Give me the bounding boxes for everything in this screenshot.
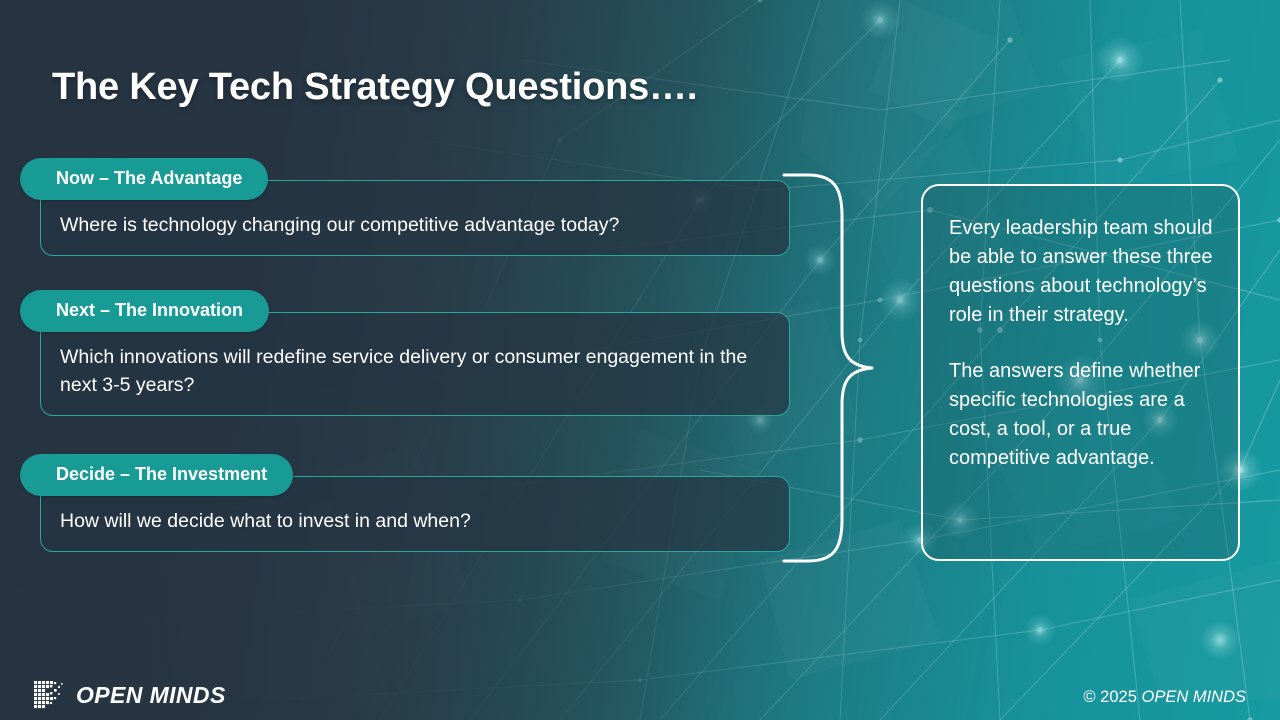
question-pill-decide[interactable]: Decide – The Investment xyxy=(20,454,293,496)
copyright-notice: © 2025 OPEN MINDS xyxy=(1083,688,1246,707)
question-text-next: Which innovations will redefine service … xyxy=(60,343,767,399)
copyright-symbol: © xyxy=(1083,688,1095,706)
open-minds-logo: OPEN MINDS xyxy=(34,681,226,709)
question-text-now: Where is technology changing our competi… xyxy=(60,211,767,239)
curly-brace-connector xyxy=(780,172,880,564)
copyright-year: 2025 xyxy=(1100,688,1137,706)
question-text-decide: How will we decide what to invest in and… xyxy=(60,507,767,535)
callout-panel: Every leadership team should be able to … xyxy=(921,184,1240,561)
copyright-brand: OPEN MINDS xyxy=(1141,688,1246,706)
logo-wordmark: OPEN MINDS xyxy=(76,682,226,709)
slide-canvas: The Key Tech Strategy Questions…. Where … xyxy=(0,0,1280,720)
question-pill-now[interactable]: Now – The Advantage xyxy=(20,158,268,200)
slide-title: The Key Tech Strategy Questions…. xyxy=(52,66,697,109)
callout-paragraph-1: Every leadership team should be able to … xyxy=(949,214,1214,330)
callout-paragraph-2: The answers define whether specific tech… xyxy=(949,357,1214,473)
pixel-grid-logo-icon xyxy=(34,681,68,709)
question-pill-next[interactable]: Next – The Innovation xyxy=(20,290,269,332)
